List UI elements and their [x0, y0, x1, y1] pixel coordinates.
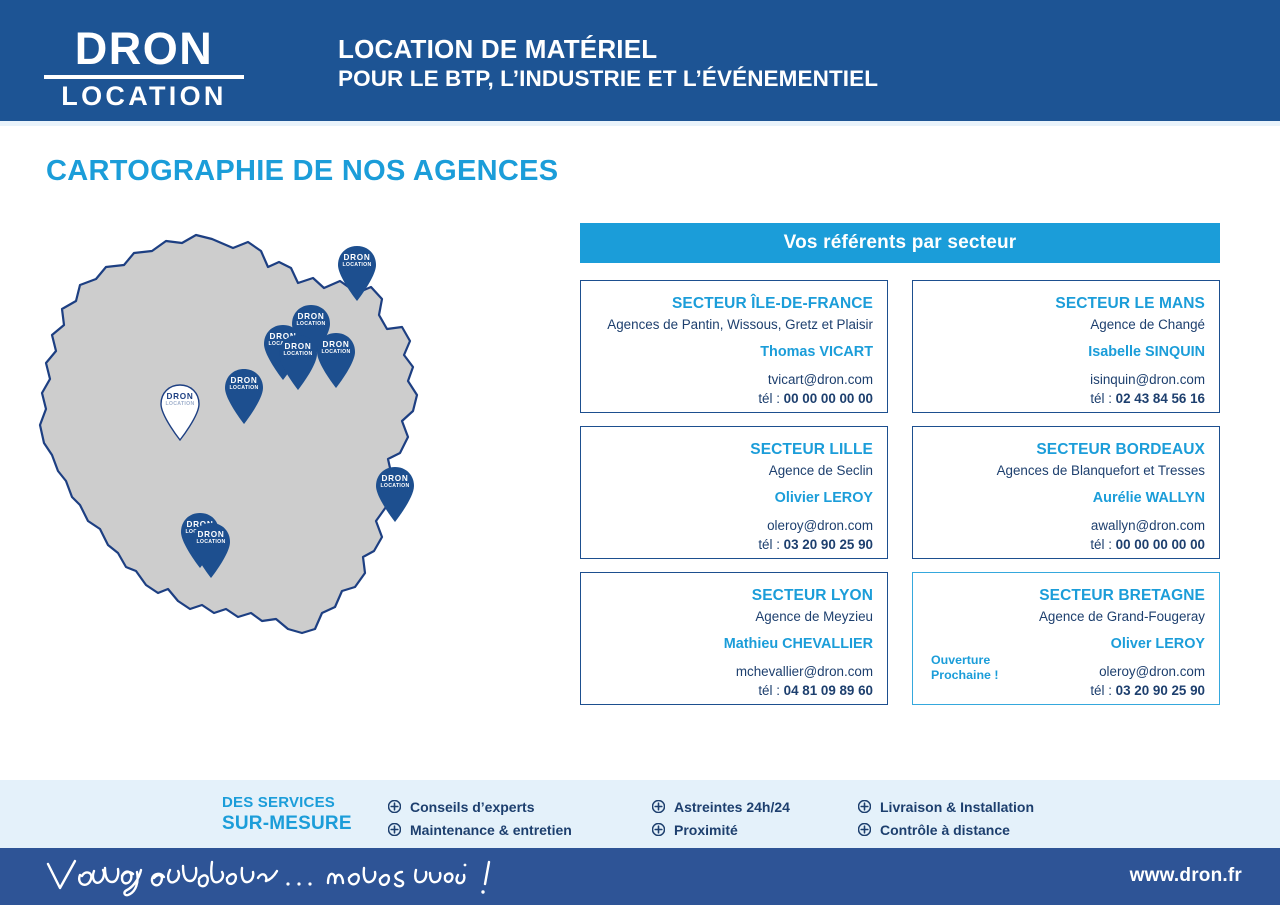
service-item: Astreintes 24h/24 — [652, 795, 790, 818]
card-agencies: Agences de Blanquefort et Tresses — [927, 461, 1205, 481]
map-pin-change[interactable]: DRONLOCATION — [221, 367, 267, 425]
tagline-line-2: POUR LE BTP, L’INDUSTRIE ET L’ÉVÉNEMENTI… — [338, 65, 878, 93]
service-item: Maintenance & entretien — [388, 818, 572, 841]
card-agencies: Agence de Meyzieu — [595, 607, 873, 627]
card-contact-name: Mathieu CHEVALLIER — [595, 634, 873, 654]
services-column-1: Conseils d’expertsMaintenance & entretie… — [388, 795, 572, 841]
services-title: DES SERVICES SUR-MESURE — [222, 793, 352, 836]
map-pin-plaisir[interactable]: DRONLOCATION — [313, 331, 359, 389]
service-item-label: Conseils d’experts — [410, 799, 535, 815]
sector-card[interactable]: SECTEUR LE MANSAgence de ChangéIsabelle … — [912, 280, 1220, 413]
services-band: DES SERVICES SUR-MESURE Conseils d’exper… — [0, 780, 1280, 848]
service-item-label: Proximité — [674, 822, 738, 838]
service-item: Conseils d’experts — [388, 795, 572, 818]
card-sector-title: SECTEUR BORDEAUX — [927, 441, 1205, 459]
plus-circle-icon — [858, 823, 871, 836]
card-agencies: Agence de Grand-Fougeray — [927, 607, 1205, 627]
service-item-label: Contrôle à distance — [880, 822, 1010, 838]
service-item-label: Livraison & Installation — [880, 799, 1034, 815]
card-email[interactable]: awallyn@dron.com — [927, 516, 1205, 535]
map-pin-icon — [334, 244, 380, 302]
tagline-line-1: LOCATION DE MATÉRIEL — [338, 33, 878, 65]
map-pin-icon — [188, 521, 234, 579]
card-contact-name: Isabelle SINQUIN — [927, 342, 1205, 362]
plus-circle-icon — [652, 823, 665, 836]
card-agencies: Agences de Pantin, Wissous, Gretz et Pla… — [595, 315, 873, 335]
map-pin-icon — [372, 465, 418, 523]
map-pin-grand-fougeray[interactable]: DRONLOCATION — [157, 383, 203, 441]
card-telephone[interactable]: tél : 00 00 00 00 00 — [927, 535, 1205, 554]
panel-banner: Vos référents par secteur — [580, 223, 1220, 263]
card-contact-name: Aurélie WALLYN — [927, 488, 1205, 508]
plus-circle-icon — [388, 823, 401, 836]
france-map-shape — [30, 215, 550, 725]
sector-card[interactable]: SECTEUR LYONAgence de MeyzieuMathieu CHE… — [580, 572, 888, 705]
sector-card[interactable]: SECTEUR LILLEAgence de SeclinOlivier LER… — [580, 426, 888, 559]
sector-card[interactable]: SECTEUR ÎLE-DE-FRANCEAgences de Pantin, … — [580, 280, 888, 413]
card-telephone[interactable]: tél : 02 43 84 56 16 — [927, 389, 1205, 408]
france-agency-map[interactable]: DRONLOCATIONDRONLOCATIONDRONLOCATIONDRON… — [30, 215, 550, 725]
card-sector-title: SECTEUR ÎLE-DE-FRANCE — [595, 295, 873, 313]
map-pin-icon — [157, 383, 203, 441]
referents-panel: Vos référents par secteur SECTEUR ÎLE-DE… — [580, 223, 1220, 705]
sector-card[interactable]: SECTEUR BRETAGNEAgence de Grand-Fougeray… — [912, 572, 1220, 705]
card-telephone[interactable]: tél : 00 00 00 00 00 — [595, 389, 873, 408]
card-opening-note-line-1: Ouverture — [931, 653, 998, 668]
card-agencies: Agence de Changé — [927, 315, 1205, 335]
logo-location-text: LOCATION — [44, 82, 244, 110]
card-telephone[interactable]: tél : 03 20 90 25 90 — [927, 681, 1205, 700]
card-opening-note: OuvertureProchaine ! — [931, 653, 998, 683]
card-contact-name: Oliver LEROY — [927, 634, 1205, 654]
header-tagline: LOCATION DE MATÉRIEL POUR LE BTP, L’INDU… — [338, 33, 878, 93]
page-header: DRON LOCATION LOCATION DE MATÉRIEL POUR … — [0, 0, 1280, 121]
map-pin-meyzieu[interactable]: DRONLOCATION — [372, 465, 418, 523]
footer-bar: www.dron.fr — [0, 848, 1280, 905]
service-item: Proximité — [652, 818, 790, 841]
card-email[interactable]: tvicart@dron.com — [595, 370, 873, 389]
sector-card[interactable]: SECTEUR BORDEAUXAgences de Blanquefort e… — [912, 426, 1220, 559]
sector-cards-grid: SECTEUR ÎLE-DE-FRANCEAgences de Pantin, … — [580, 280, 1220, 705]
logo-divider-rule — [44, 75, 244, 79]
logo-dron-text: DRON — [44, 26, 244, 72]
header-underbar — [0, 121, 1280, 126]
card-sector-title: SECTEUR BRETAGNE — [927, 587, 1205, 605]
plus-circle-icon — [652, 800, 665, 813]
plus-circle-icon — [858, 800, 871, 813]
card-agencies: Agence de Seclin — [595, 461, 873, 481]
service-item-label: Astreintes 24h/24 — [674, 799, 790, 815]
slogan-script-icon — [42, 856, 512, 898]
service-item: Contrôle à distance — [858, 818, 1034, 841]
page-title: CARTOGRAPHIE DE NOS AGENCES — [46, 155, 558, 188]
brand-logo[interactable]: DRON LOCATION — [44, 26, 244, 110]
card-telephone[interactable]: tél : 04 81 09 89 60 — [595, 681, 873, 700]
card-sector-title: SECTEUR LILLE — [595, 441, 873, 459]
services-column-3: Livraison & InstallationContrôle à dista… — [858, 795, 1034, 841]
plus-circle-icon — [858, 823, 871, 836]
card-email[interactable]: mchevallier@dron.com — [595, 662, 873, 681]
card-telephone[interactable]: tél : 03 20 90 25 90 — [595, 535, 873, 554]
plus-circle-icon — [388, 823, 401, 836]
plus-circle-icon — [388, 800, 401, 813]
plus-circle-icon — [388, 800, 401, 813]
services-title-line-2: SUR-MESURE — [222, 812, 352, 836]
map-pin-seclin[interactable]: DRONLOCATION — [334, 244, 380, 302]
service-item: Livraison & Installation — [858, 795, 1034, 818]
services-title-line-1: DES SERVICES — [222, 793, 352, 812]
services-column-2: Astreintes 24h/24Proximité — [652, 795, 790, 841]
card-email[interactable]: oleroy@dron.com — [595, 516, 873, 535]
map-pin-icon — [221, 367, 267, 425]
card-sector-title: SECTEUR LYON — [595, 587, 873, 605]
card-sector-title: SECTEUR LE MANS — [927, 295, 1205, 313]
panel-banner-title: Vos référents par secteur — [784, 232, 1017, 254]
card-opening-note-line-2: Prochaine ! — [931, 668, 998, 683]
handwritten-slogan — [42, 856, 512, 898]
plus-circle-icon — [858, 800, 871, 813]
plus-circle-icon — [652, 823, 665, 836]
map-pin-tresses[interactable]: DRONLOCATION — [188, 521, 234, 579]
card-contact-name: Thomas VICART — [595, 342, 873, 362]
card-contact-name: Olivier LEROY — [595, 488, 873, 508]
card-email[interactable]: isinquin@dron.com — [927, 370, 1205, 389]
map-pin-icon — [313, 331, 359, 389]
website-url[interactable]: www.dron.fr — [1130, 865, 1242, 887]
plus-circle-icon — [652, 800, 665, 813]
service-item-label: Maintenance & entretien — [410, 822, 572, 838]
